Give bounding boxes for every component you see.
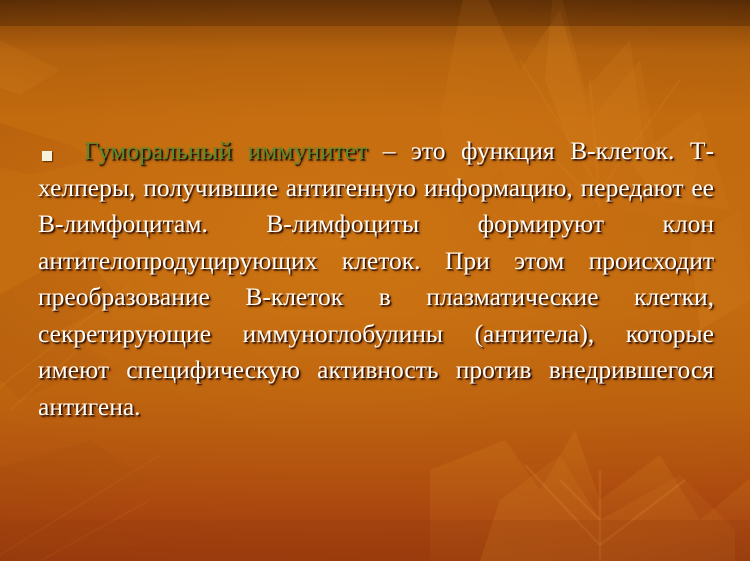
body-paragraph: Гуморальный иммунитет – это функция В-кл… xyxy=(38,133,714,425)
square-bullet-icon xyxy=(42,151,52,161)
body-paragraph-text: – это функция В-клеток. Т-хелперы, получ… xyxy=(38,136,714,421)
highlighted-term: Гуморальный иммунитет xyxy=(84,136,367,165)
bullet-list-item: Гуморальный иммунитет – это функция В-кл… xyxy=(38,133,714,425)
slide-body-content: Гуморальный иммунитет – это функция В-кл… xyxy=(38,133,714,425)
presentation-slide: Гуморальный иммунитет – это функция В-кл… xyxy=(0,0,750,561)
